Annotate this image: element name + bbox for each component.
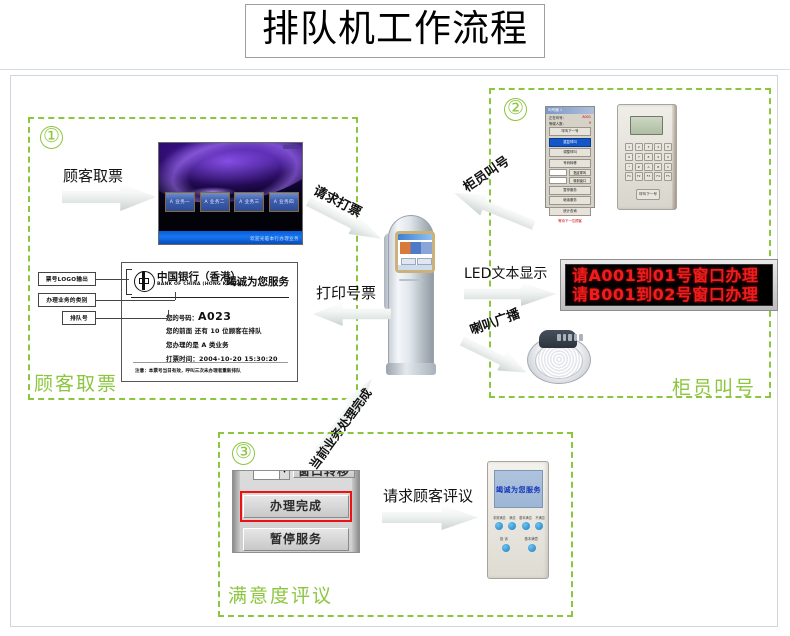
rating-label-5: 投 诉 bbox=[500, 536, 508, 541]
panel-2-label: 柜员叫号 bbox=[672, 378, 756, 398]
kiosk-button-4[interactable]: A 业务四 bbox=[269, 192, 299, 212]
software-inline-row-2: 转到窗口 bbox=[549, 177, 591, 184]
software-row-waiting-key: 等候人数： bbox=[549, 121, 566, 126]
arrow-label-customer-take-ticket: 顾客取票 bbox=[63, 165, 123, 186]
kiosk-screen-buttons: A 业务一 A 业务二 A 业务三 A 业务四 bbox=[165, 192, 299, 212]
software-row-calling-key: 正在叫号： bbox=[549, 115, 566, 120]
rating-label-2: 满意 bbox=[509, 515, 515, 520]
page-title-wrapper: 排队机工作流程 bbox=[0, 4, 790, 58]
keypad-key[interactable]: 4 bbox=[654, 143, 662, 151]
keypad-key[interactable]: C bbox=[664, 163, 672, 171]
speaker-vents bbox=[557, 334, 583, 341]
software-row-waiting: 等候人数： 9 bbox=[546, 120, 594, 126]
button-row-pause: 暂停服务 bbox=[243, 528, 349, 551]
panel-3-label: 满意度评议 bbox=[228, 586, 333, 606]
pause-service-button[interactable]: 暂停服务 bbox=[243, 528, 349, 551]
keypad-key[interactable]: A bbox=[644, 163, 652, 171]
speaker-cone bbox=[535, 343, 583, 379]
keypad-key[interactable]: 7 bbox=[635, 153, 643, 161]
teller-keypad-device[interactable]: 1 2 3 4 5 6 7 8 9 0 * # A B C F1 F2 F3 F… bbox=[617, 104, 677, 210]
keypad-key[interactable]: 2 bbox=[635, 143, 643, 151]
keypad-key[interactable]: F4 bbox=[654, 172, 662, 180]
callout-lead-1 bbox=[96, 279, 129, 280]
arrow-label-request-rating: 请求顾客评议 bbox=[383, 485, 473, 506]
printed-ticket: 中国银行（香港） BANK OF CHINA (HONG KONG) 竭诚为您服… bbox=[121, 262, 298, 382]
ticket-divider bbox=[131, 297, 289, 298]
keypad-lcd-screen bbox=[630, 116, 663, 135]
rating-button-basic[interactable] bbox=[528, 544, 536, 552]
keypad-key[interactable]: # bbox=[635, 163, 643, 171]
keypad-key[interactable]: F1 bbox=[625, 172, 633, 180]
panel-1-number: ① bbox=[40, 126, 63, 149]
kiosk-button-3[interactable]: A 业务三 bbox=[234, 192, 264, 212]
keypad-key[interactable]: F3 bbox=[644, 172, 652, 180]
kiosk-base bbox=[386, 363, 436, 375]
software-button-adjust[interactable]: 调整呼叫 bbox=[549, 148, 591, 157]
kiosk-screen-ticker: 欢迎光临本行办理业务 bbox=[250, 236, 299, 242]
software-button-pause[interactable]: 暂停服务 bbox=[549, 186, 591, 195]
kiosk-button-1[interactable]: A 业务一 bbox=[165, 192, 195, 212]
ticket-number-row: 您的号码：A023 bbox=[166, 310, 231, 323]
rating-button-unsatisfied[interactable] bbox=[535, 522, 543, 530]
rating-button-very-satisfied[interactable] bbox=[495, 522, 503, 530]
led-display-inner: 请A001到01号窗口办理 请B001到02号窗口办理 bbox=[565, 264, 773, 306]
rating-label-3: 基本满意 bbox=[519, 515, 532, 520]
software-row-waiting-value: 9 bbox=[589, 121, 591, 126]
keypad-key[interactable]: 5 bbox=[664, 143, 672, 151]
keypad-key[interactable]: 3 bbox=[644, 143, 652, 151]
callout-logo-output: 票号LOGO输出 bbox=[38, 272, 96, 286]
keypad-key[interactable]: F2 bbox=[635, 172, 643, 180]
arrow-label-print-ticket: 打印号票 bbox=[316, 282, 376, 303]
button-row-top: ▾ 窗口转移 bbox=[243, 470, 349, 490]
software-button-repeat[interactable]: 重复呼叫 bbox=[549, 138, 591, 147]
kiosk-monitor-images bbox=[400, 242, 432, 254]
rating-label-1: 非常满意 bbox=[493, 515, 506, 520]
header-divider bbox=[0, 69, 790, 70]
kiosk-screen-image: A 业务一 A 业务二 A 业务三 A 业务四 欢迎光临本行办理业务 bbox=[158, 142, 303, 245]
software-button-appoint[interactable]: 指定呼叫 bbox=[569, 169, 592, 176]
keypad-key[interactable]: 0 bbox=[664, 153, 672, 161]
kiosk-monitor-button-2[interactable] bbox=[417, 258, 432, 265]
rating-label-4: 不满意 bbox=[535, 515, 545, 520]
keypad-call-next-button[interactable]: 呼叫下一号 bbox=[636, 189, 660, 200]
kiosk-monitor-button-1[interactable] bbox=[401, 258, 416, 265]
page-title: 排队机工作流程 bbox=[245, 4, 545, 58]
window-transfer-button[interactable]: 窗口转移 bbox=[293, 470, 355, 478]
kiosk-ticket-slot bbox=[399, 279, 423, 281]
teller-software-window[interactable]: 叫号器 1 正在叫号： A001 等候人数： 9 呼叫下一号 重复呼叫 调整呼叫… bbox=[545, 106, 595, 208]
button-panel-left-rail bbox=[233, 471, 240, 552]
keypad-side-edge bbox=[672, 105, 676, 209]
software-button-stats[interactable]: 统计查询 bbox=[549, 207, 591, 216]
arrow-teller-call-number bbox=[450, 183, 538, 236]
rating-button-basically-satisfied[interactable] bbox=[522, 522, 530, 530]
panel-2-number: ② bbox=[504, 98, 527, 121]
arrow-label-led-display: LED文本显示 bbox=[464, 263, 547, 283]
software-button-resume[interactable]: 继续服务 bbox=[549, 196, 591, 205]
callout-lead-3 bbox=[96, 318, 168, 319]
software-button-transfer[interactable]: 号码转移 bbox=[549, 159, 591, 168]
callout-lead-3-riser bbox=[168, 310, 169, 318]
ticket-bracket bbox=[126, 269, 132, 295]
keypad-key[interactable]: 6 bbox=[625, 153, 633, 161]
software-button-window[interactable]: 转到窗口 bbox=[569, 177, 592, 184]
panel-3-number: ③ bbox=[232, 442, 255, 465]
customer-rating-pad[interactable]: 竭诚为您服务 非常满意 满意 基本满意 不满意 投 诉 基本满意 bbox=[487, 461, 549, 579]
kiosk-monitor-header bbox=[398, 234, 432, 240]
ticket-note-divider bbox=[133, 362, 288, 363]
led-line-2: 请B001到02号窗口办理 bbox=[572, 285, 766, 304]
callout-lead-2-riser bbox=[175, 292, 176, 300]
led-display-board: 请A001到01号窗口办理 请B001到02号窗口办理 bbox=[560, 259, 778, 311]
software-inline-row-1: 指定呼叫 bbox=[549, 169, 591, 176]
keypad-key[interactable]: F5 bbox=[664, 172, 672, 180]
ticket-business-line: 您办理的是 A 类业务 bbox=[166, 340, 229, 349]
arrow-teller-call-number-group: 柜员叫号 bbox=[452, 168, 552, 230]
rating-pad-screen: 竭诚为您服务 bbox=[494, 470, 543, 508]
button-panel-right-rail bbox=[352, 471, 359, 552]
teller-button-panel[interactable]: ▾ 窗口转移 办理完成 暂停服务 bbox=[232, 470, 360, 553]
kiosk-monitor[interactable] bbox=[395, 231, 435, 273]
kiosk-button-2[interactable]: A 业务二 bbox=[200, 192, 230, 212]
kiosk-screen-badge bbox=[283, 145, 299, 149]
ticket-number-value: A023 bbox=[198, 310, 231, 323]
kiosk-monitor-footer bbox=[398, 265, 432, 270]
rating-option-labels: 非常满意 满意 基本满意 不满意 bbox=[493, 515, 545, 520]
queue-kiosk-machine bbox=[384, 215, 438, 375]
ceiling-speaker bbox=[527, 330, 589, 382]
keypad-key[interactable]: * bbox=[625, 163, 633, 171]
rating-label-6: 基本满意 bbox=[524, 536, 538, 541]
keypad-key[interactable]: 1 bbox=[625, 143, 633, 151]
ticket-note: 注意：本票号当日有效，呼叫三次未办理者重新排队 bbox=[135, 368, 241, 374]
rating-button-satisfied[interactable] bbox=[508, 522, 516, 530]
software-status-text: 等待下一位顾客 bbox=[546, 218, 594, 223]
ticket-waiting-line: 您的前面 还有 10 位顾客在排队 bbox=[166, 326, 262, 335]
callout-lead-2 bbox=[96, 300, 175, 301]
keypad-key[interactable]: B bbox=[654, 163, 662, 171]
speaker-housing bbox=[539, 330, 577, 348]
led-line-1: 请A001到01号窗口办理 bbox=[572, 266, 766, 285]
software-window-titlebar: 叫号器 1 bbox=[546, 107, 594, 114]
callout-business-type: 办理业务的类别 bbox=[38, 293, 96, 307]
ticket-slogan: 竭诚为您服务 bbox=[226, 274, 289, 289]
panel-1-label: 顾客取票 bbox=[34, 374, 118, 394]
chevron-down-icon[interactable]: ▾ bbox=[279, 470, 290, 480]
keypad-key-grid[interactable]: 1 2 3 4 5 6 7 8 9 0 * # A B C F1 F2 F3 F… bbox=[625, 143, 672, 181]
software-row-calling-value: A001 bbox=[582, 115, 591, 120]
bank-logo-icon bbox=[134, 271, 155, 292]
rating-option-labels-2: 投 诉 基本满意 bbox=[500, 536, 538, 541]
arrow-request-print-ticket-group: 请求打票 bbox=[312, 175, 392, 233]
rating-button-complaint[interactable] bbox=[502, 544, 510, 552]
diagram-stage: 排队机工作流程 ① 顾客取票 A 业务一 A 业务二 A 业务三 A 业务四 欢… bbox=[0, 0, 790, 636]
rating-buttons-row-1 bbox=[495, 522, 543, 530]
software-button-next[interactable]: 呼叫下一号 bbox=[549, 127, 591, 136]
callout-queue-number: 排队号 bbox=[62, 311, 96, 325]
ticket-number-label: 您的号码： bbox=[166, 314, 198, 322]
rating-buttons-row-2 bbox=[502, 544, 536, 552]
complete-service-highlight bbox=[240, 491, 352, 522]
keypad-key[interactable]: 8 bbox=[644, 153, 652, 161]
keypad-key[interactable]: 9 bbox=[654, 153, 662, 161]
